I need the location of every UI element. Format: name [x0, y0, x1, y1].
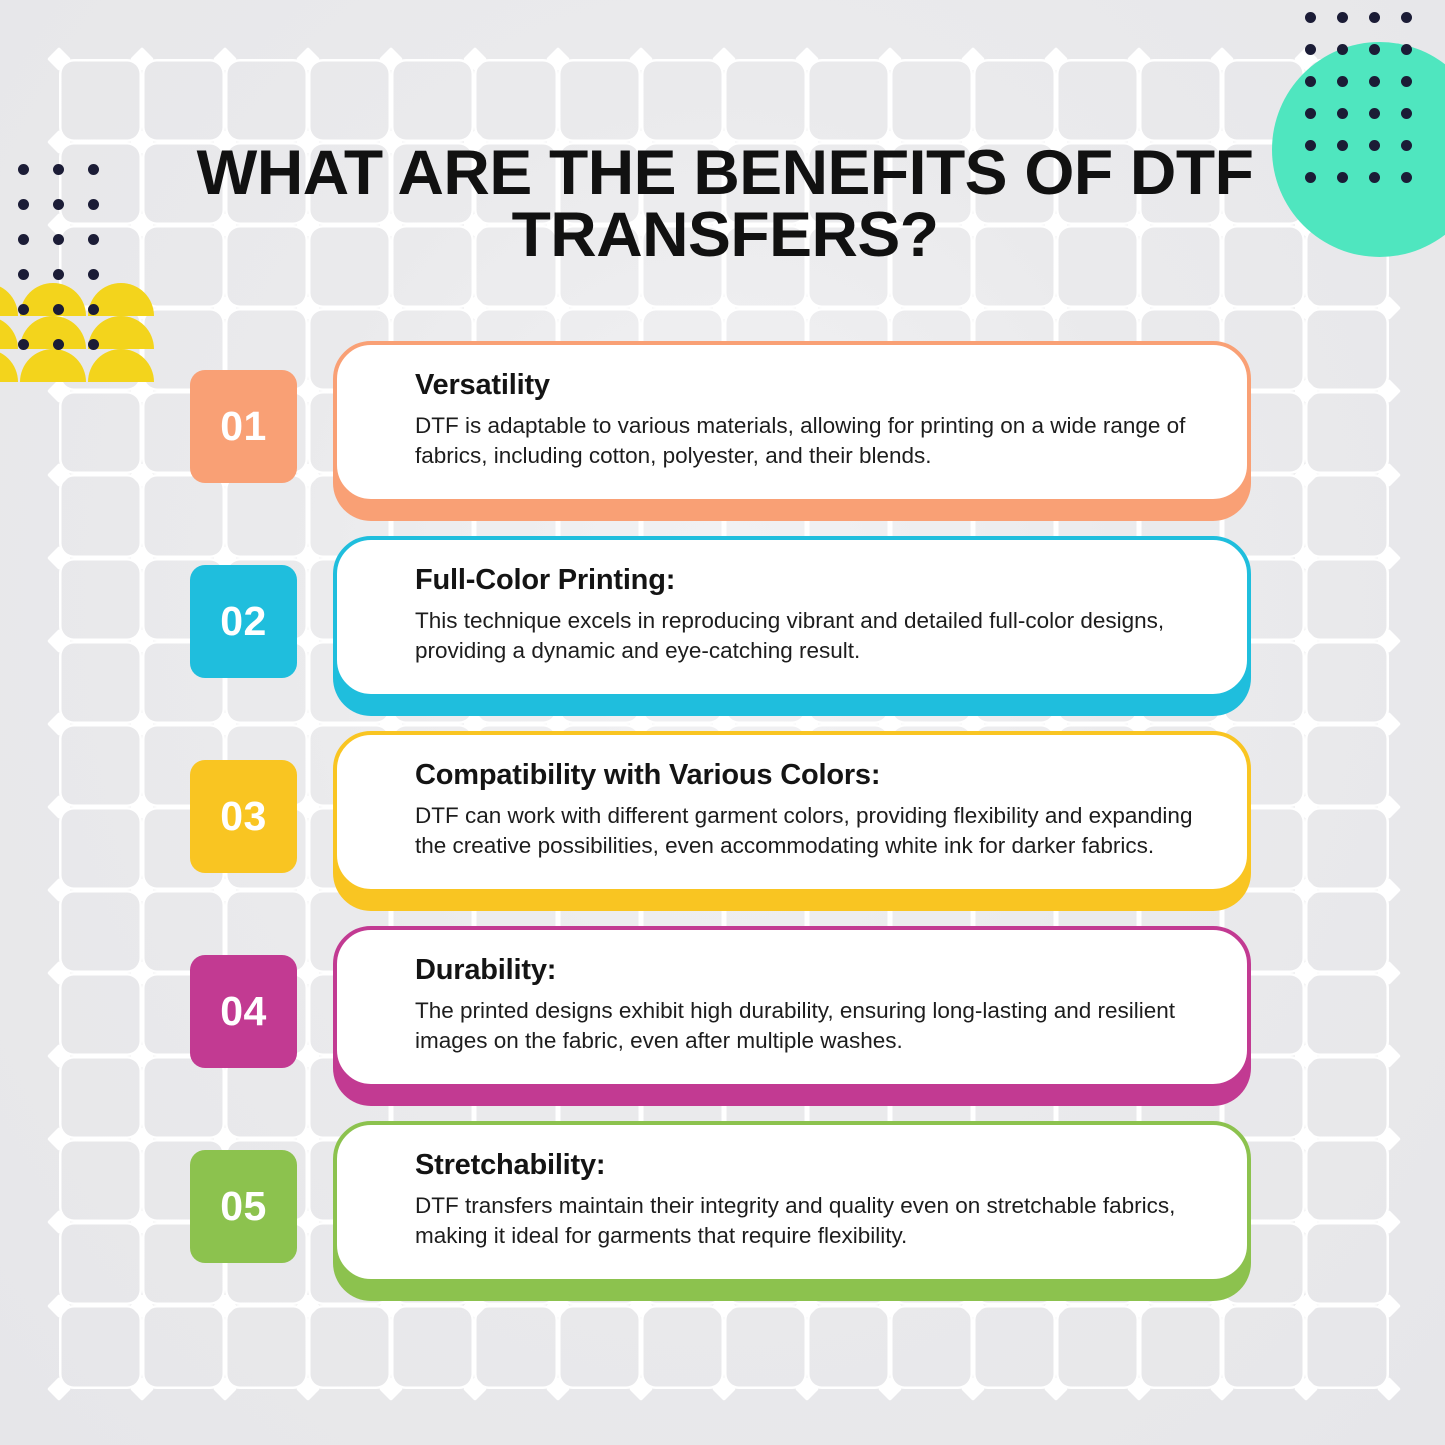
card-description: DTF is adaptable to various materials, a…	[415, 411, 1207, 471]
decorative-dot	[1337, 44, 1348, 55]
benefit-card[interactable]: Compatibility with Various Colors:DTF ca…	[333, 731, 1251, 911]
grid-diamond	[296, 47, 320, 71]
grid-diamond	[1210, 296, 1234, 320]
grid-diamond	[878, 296, 902, 320]
decorative-dot	[1305, 44, 1316, 55]
grid-diamond	[47, 130, 71, 154]
decorative-dot	[18, 199, 29, 210]
grid-tile	[225, 59, 308, 142]
decorative-dot	[1305, 12, 1316, 23]
grid-diamond	[961, 47, 985, 71]
benefit-card[interactable]: Full-Color Printing:This technique excel…	[333, 536, 1251, 716]
grid-diamond	[961, 1377, 985, 1401]
grid-diamond	[130, 213, 154, 237]
decorative-dot	[18, 234, 29, 245]
grid-diamond	[379, 296, 403, 320]
card-heading: Full-Color Printing:	[415, 564, 1207, 597]
item-number-badge: 03	[190, 760, 297, 873]
grid-tile	[1305, 1305, 1388, 1388]
grid-diamond	[379, 1377, 403, 1401]
grid-tile	[724, 1305, 807, 1388]
grid-diamond	[130, 1377, 154, 1401]
grid-diamond	[1127, 1377, 1151, 1401]
item-number-badge: 01	[190, 370, 297, 483]
grid-diamond	[795, 47, 819, 71]
grid-diamond	[629, 1377, 653, 1401]
card-body: Compatibility with Various Colors:DTF ca…	[333, 731, 1251, 893]
decorative-dot	[1401, 44, 1412, 55]
benefit-card[interactable]: Durability:The printed designs exhibit h…	[333, 926, 1251, 1106]
grid-diamond	[1044, 1377, 1068, 1401]
grid-diamond	[629, 296, 653, 320]
item-number-badge: 04	[190, 955, 297, 1068]
grid-tile	[890, 1305, 973, 1388]
grid-tile	[724, 59, 807, 142]
list-item[interactable]: 01VersatilityDTF is adaptable to various…	[0, 341, 1445, 536]
item-number-badge: 05	[190, 1150, 297, 1263]
decorative-dot	[1337, 140, 1348, 151]
grid-diamond	[712, 296, 736, 320]
grid-diamond	[795, 1377, 819, 1401]
grid-diamond	[130, 47, 154, 71]
page-title: WHAT ARE THE BENEFITS OF DTF TRANSFERS?	[179, 143, 1270, 266]
decorative-dot	[1337, 76, 1348, 87]
decorative-dot	[88, 199, 99, 210]
grid-tile	[308, 1305, 391, 1388]
decorative-dot	[88, 304, 99, 315]
decorative-dot	[53, 269, 64, 280]
infographic-poster: WHAT ARE THE BENEFITS OF DTF TRANSFERS? …	[0, 0, 1445, 1445]
grid-diamond	[546, 47, 570, 71]
grid-diamond	[47, 47, 71, 71]
grid-tile	[59, 1305, 142, 1388]
grid-diamond	[296, 1377, 320, 1401]
grid-diamond	[462, 1377, 486, 1401]
list-item[interactable]: 04Durability:The printed designs exhibit…	[0, 926, 1445, 1121]
grid-diamond	[1293, 1377, 1317, 1401]
grid-tile	[142, 59, 225, 142]
grid-diamond	[1044, 296, 1068, 320]
decorative-dot	[88, 234, 99, 245]
grid-tile	[474, 59, 557, 142]
decorative-dot	[53, 304, 64, 315]
decorative-dot	[1369, 108, 1380, 119]
decorative-dot	[1369, 172, 1380, 183]
grid-diamond	[546, 296, 570, 320]
card-heading: Compatibility with Various Colors:	[415, 759, 1207, 792]
grid-diamond	[213, 47, 237, 71]
grid-diamond	[1127, 296, 1151, 320]
decorative-dot	[1305, 172, 1316, 183]
decorative-dot	[53, 234, 64, 245]
decorative-dot	[1401, 108, 1412, 119]
card-body: Full-Color Printing:This technique excel…	[333, 536, 1251, 698]
grid-tile	[59, 59, 142, 142]
grid-tile	[1056, 59, 1139, 142]
grid-diamond	[629, 47, 653, 71]
grid-diamond	[1210, 1377, 1234, 1401]
decorative-dot	[1305, 76, 1316, 87]
decorative-dot	[1305, 108, 1316, 119]
arch-shape	[0, 283, 18, 316]
decorative-dot	[53, 164, 64, 175]
list-item[interactable]: 05Stretchability:DTF transfers maintain …	[0, 1121, 1445, 1316]
grid-diamond	[213, 1377, 237, 1401]
decorative-dot	[53, 199, 64, 210]
decorative-dot	[88, 164, 99, 175]
list-item[interactable]: 03Compatibility with Various Colors:DTF …	[0, 731, 1445, 926]
card-heading: Stretchability:	[415, 1149, 1207, 1182]
benefit-list: 01VersatilityDTF is adaptable to various…	[0, 341, 1445, 1316]
card-body: Stretchability:DTF transfers maintain th…	[333, 1121, 1251, 1283]
grid-tile	[142, 1305, 225, 1388]
decorative-dot	[1305, 140, 1316, 151]
grid-diamond	[1293, 296, 1317, 320]
grid-tile	[1139, 1305, 1222, 1388]
grid-tile	[558, 59, 641, 142]
grid-diamond	[546, 1377, 570, 1401]
benefit-card[interactable]: Stretchability:DTF transfers maintain th…	[333, 1121, 1251, 1301]
item-number-badge: 02	[190, 565, 297, 678]
grid-diamond	[712, 47, 736, 71]
card-description: DTF can work with different garment colo…	[415, 801, 1207, 861]
grid-diamond	[47, 1377, 71, 1401]
grid-diamond	[795, 296, 819, 320]
decorative-dot	[1401, 76, 1412, 87]
grid-tile	[973, 1305, 1056, 1388]
decorative-dot	[1369, 140, 1380, 151]
grid-tile	[1139, 59, 1222, 142]
grid-diamond	[878, 47, 902, 71]
decorative-dot	[18, 269, 29, 280]
grid-tile	[807, 59, 890, 142]
grid-tile	[391, 59, 474, 142]
grid-tile	[1222, 1305, 1305, 1388]
decorative-dot	[18, 304, 29, 315]
grid-diamond	[462, 296, 486, 320]
grid-diamond	[712, 1377, 736, 1401]
grid-diamond	[130, 130, 154, 154]
grid-tile	[973, 59, 1056, 142]
card-description: DTF transfers maintain their integrity a…	[415, 1191, 1207, 1251]
decorative-dot	[1401, 140, 1412, 151]
grid-tile	[474, 1305, 557, 1388]
decorative-dot	[1369, 76, 1380, 87]
grid-diamond	[878, 1377, 902, 1401]
grid-diamond	[1377, 296, 1401, 320]
grid-tile	[807, 1305, 890, 1388]
card-heading: Durability:	[415, 954, 1207, 987]
grid-diamond	[1044, 47, 1068, 71]
grid-tile	[225, 1305, 308, 1388]
grid-diamond	[1210, 47, 1234, 71]
card-body: VersatilityDTF is adaptable to various m…	[333, 341, 1251, 503]
grid-diamond	[213, 296, 237, 320]
grid-diamond	[296, 296, 320, 320]
decorative-dot	[18, 164, 29, 175]
benefit-card[interactable]: VersatilityDTF is adaptable to various m…	[333, 341, 1251, 521]
grid-tile	[1056, 1305, 1139, 1388]
grid-diamond	[1377, 1377, 1401, 1401]
grid-diamond	[1127, 47, 1151, 71]
decorative-dot	[1369, 44, 1380, 55]
decorative-dot	[1401, 12, 1412, 23]
grid-tile	[558, 1305, 641, 1388]
grid-diamond	[961, 296, 985, 320]
grid-tile	[641, 59, 724, 142]
card-body: Durability:The printed designs exhibit h…	[333, 926, 1251, 1088]
decorative-dot	[88, 269, 99, 280]
grid-tile	[308, 59, 391, 142]
grid-tile	[391, 1305, 474, 1388]
card-description: The printed designs exhibit high durabil…	[415, 996, 1207, 1056]
grid-tile	[641, 1305, 724, 1388]
dot-grid-top-right	[1305, 12, 1433, 204]
grid-diamond	[379, 47, 403, 71]
grid-diamond	[462, 47, 486, 71]
card-description: This technique excels in reproducing vib…	[415, 606, 1207, 666]
grid-tile	[890, 59, 973, 142]
decorative-dot	[1337, 12, 1348, 23]
decorative-dot	[1337, 108, 1348, 119]
decorative-dot	[1369, 12, 1380, 23]
decorative-dot	[1401, 172, 1412, 183]
card-heading: Versatility	[415, 369, 1207, 402]
decorative-dot	[1337, 172, 1348, 183]
list-item[interactable]: 02Full-Color Printing:This technique exc…	[0, 536, 1445, 731]
